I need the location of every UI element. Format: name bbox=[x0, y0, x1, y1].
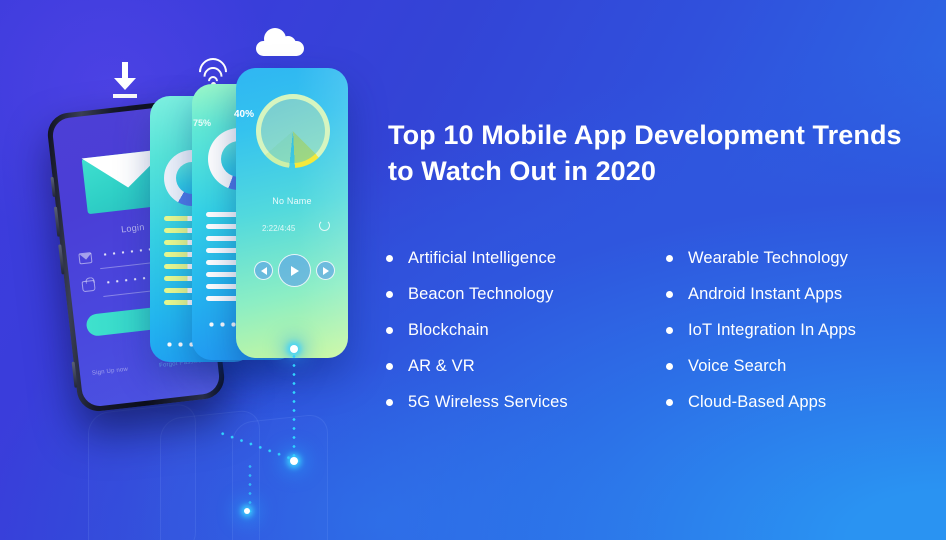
bullet-icon bbox=[386, 363, 393, 370]
list-item: Wearable Technology bbox=[666, 240, 946, 276]
play-button[interactable] bbox=[278, 254, 311, 287]
bullet-icon bbox=[666, 255, 673, 262]
download-icon-base bbox=[113, 94, 137, 98]
connector-node-top bbox=[290, 345, 298, 353]
connector-node-small bbox=[244, 508, 250, 514]
trends-right-column: Wearable Technology Android Instant Apps… bbox=[666, 240, 946, 420]
trends-lists: Artificial Intelligence Beacon Technolog… bbox=[386, 240, 946, 420]
content-column: Top 10 Mobile App Development Trends to … bbox=[386, 0, 946, 540]
list-item-label: 5G Wireless Services bbox=[408, 393, 568, 412]
list-item: AR & VR bbox=[386, 348, 666, 384]
phone-side-button-2 bbox=[54, 207, 60, 237]
bullet-icon bbox=[666, 327, 673, 334]
bullet-icon bbox=[666, 291, 673, 298]
mail-icon bbox=[78, 252, 92, 264]
illustration-stage: Login Sign Up now Forgot Password 75% bbox=[0, 0, 372, 540]
list-item-label: Android Instant Apps bbox=[688, 285, 842, 304]
cloud-icon bbox=[256, 28, 304, 56]
list-item-label: Beacon Technology bbox=[408, 285, 553, 304]
list-item-label: Blockchain bbox=[408, 321, 489, 340]
list-item: Beacon Technology bbox=[386, 276, 666, 312]
lock-icon bbox=[82, 280, 96, 292]
bullet-icon bbox=[666, 363, 673, 370]
list-item: Android Instant Apps bbox=[666, 276, 946, 312]
bullet-icon bbox=[386, 327, 393, 334]
music-controls bbox=[236, 254, 348, 288]
reflection-card-3 bbox=[232, 413, 328, 540]
phone-side-button-1 bbox=[51, 177, 56, 197]
donut-chart-primary-label: 40% bbox=[192, 109, 296, 120]
play-icon bbox=[291, 266, 299, 276]
list-item: IoT Integration In Apps bbox=[666, 312, 946, 348]
download-icon bbox=[112, 62, 138, 100]
cloud-icon-puff-2 bbox=[280, 36, 296, 52]
page-title: Top 10 Mobile App Development Trends to … bbox=[388, 118, 924, 190]
list-item: Artificial Intelligence bbox=[386, 240, 666, 276]
bullet-icon bbox=[386, 399, 393, 406]
phone-side-button-4 bbox=[72, 362, 78, 388]
bullet-icon bbox=[386, 291, 393, 298]
connector-node-bottom bbox=[290, 457, 298, 465]
list-item: Voice Search bbox=[666, 348, 946, 384]
next-icon bbox=[323, 267, 329, 275]
list-item: Cloud-Based Apps bbox=[666, 384, 946, 420]
list-item-label: Cloud-Based Apps bbox=[688, 393, 826, 412]
list-item-label: Artificial Intelligence bbox=[408, 249, 556, 268]
music-progress-ring bbox=[256, 94, 330, 168]
list-item-label: AR & VR bbox=[408, 357, 475, 376]
list-item-label: Wearable Technology bbox=[688, 249, 848, 268]
connector-line-vertical-lower bbox=[248, 462, 252, 512]
track-title: No Name bbox=[236, 196, 348, 206]
trends-left-column: Artificial Intelligence Beacon Technolog… bbox=[386, 240, 666, 420]
phone-side-button-3 bbox=[58, 244, 64, 274]
connector-line-vertical bbox=[292, 352, 296, 460]
bullet-icon bbox=[386, 255, 393, 262]
download-icon-head bbox=[114, 78, 136, 90]
next-track-button[interactable] bbox=[316, 261, 335, 280]
sign-up-link[interactable]: Sign Up now bbox=[92, 367, 129, 377]
previous-icon bbox=[261, 267, 267, 275]
track-time: 2:22/4:45 bbox=[262, 224, 295, 233]
list-item: 5G Wireless Services bbox=[386, 384, 666, 420]
list-item-label: Voice Search bbox=[688, 357, 786, 376]
previous-track-button[interactable] bbox=[254, 261, 273, 280]
list-item-label: IoT Integration In Apps bbox=[688, 321, 856, 340]
list-item: Blockchain bbox=[386, 312, 666, 348]
bullet-icon bbox=[666, 399, 673, 406]
repeat-icon[interactable] bbox=[319, 220, 330, 231]
